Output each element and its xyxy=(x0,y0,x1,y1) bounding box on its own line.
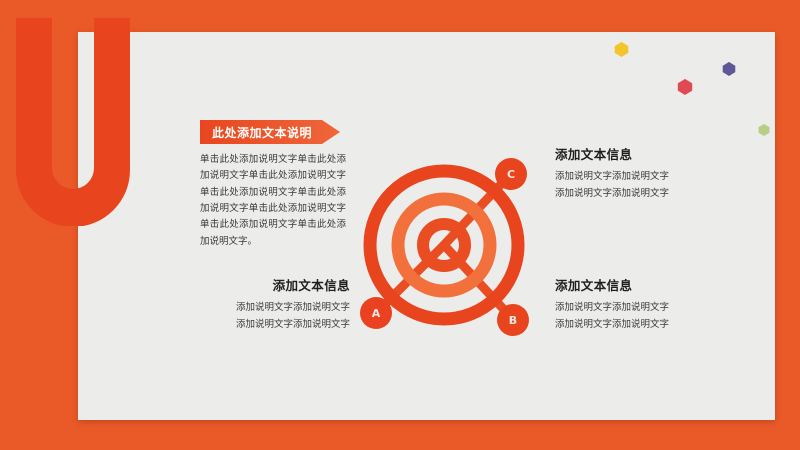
info-line: 添加说明文字添加说明文字 xyxy=(200,317,350,334)
info-title: 添加文本信息 xyxy=(200,275,350,294)
target-graphic: A B C xyxy=(333,137,553,367)
lead-paragraph: 单击此处添加说明文字单击此处添加说明文字单击此处添加说明文字单击此处添加说明文字… xyxy=(200,152,346,250)
info-line: 添加说明文字添加说明文字 xyxy=(555,186,669,203)
target-node-b-label: B xyxy=(509,314,517,327)
ribbon-label: 此处添加文本说明 xyxy=(200,120,324,144)
section-ribbon: 此处添加文本说明 xyxy=(200,120,340,144)
target-node-a-label: A xyxy=(372,307,381,320)
target-node-a[interactable]: A xyxy=(360,297,392,329)
info-block-bottom-left: 添加文本信息 添加说明文字添加说明文字 添加说明文字添加说明文字 xyxy=(200,275,350,333)
info-block-bottom-right: 添加文本信息 添加说明文字添加说明文字 添加说明文字添加说明文字 xyxy=(555,275,669,333)
info-title: 添加文本信息 xyxy=(555,144,669,163)
red-polygon xyxy=(677,79,693,95)
target-node-c[interactable]: C xyxy=(495,158,527,190)
info-line: 添加说明文字添加说明文字 xyxy=(555,317,669,334)
info-block-top-right: 添加文本信息 添加说明文字添加说明文字 添加说明文字添加说明文字 xyxy=(555,144,669,202)
target-node-b[interactable]: B xyxy=(497,304,529,336)
info-line: 添加说明文字添加说明文字 xyxy=(200,300,350,317)
info-title: 添加文本信息 xyxy=(555,275,669,294)
info-line: 添加说明文字添加说明文字 xyxy=(555,169,669,186)
green-polygon xyxy=(758,121,770,133)
target-node-c-label: C xyxy=(507,168,515,181)
target-diagram: A B C xyxy=(333,137,553,367)
purple-polygon xyxy=(722,61,736,75)
info-line: 添加说明文字添加说明文字 xyxy=(555,300,669,317)
content-card: 此处添加文本说明 单击此处添加说明文字单击此处添加说明文字单击此处添加说明文字单… xyxy=(78,32,775,420)
yellow-polygon xyxy=(614,42,629,57)
slide-canvas: 此处添加文本说明 单击此处添加说明文字单击此处添加说明文字单击此处添加说明文字单… xyxy=(0,0,800,450)
